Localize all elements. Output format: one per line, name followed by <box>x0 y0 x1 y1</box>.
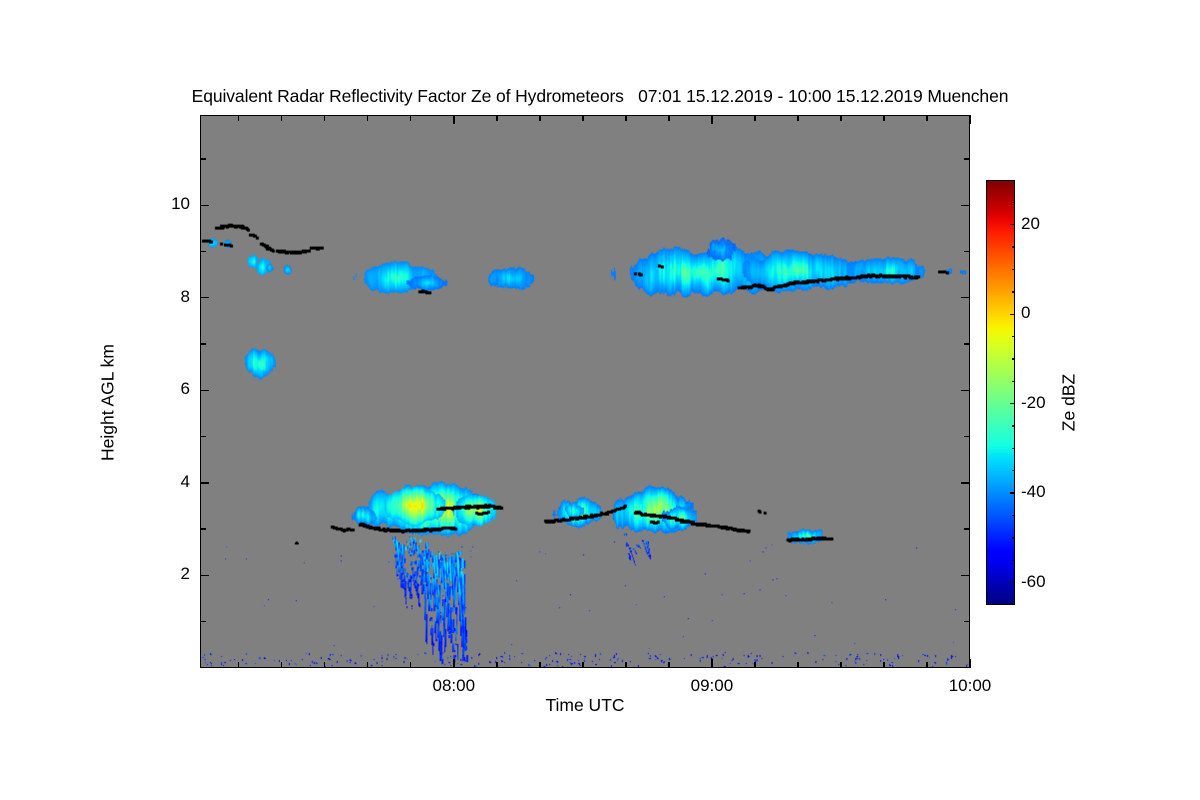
colorbar-tick-label: -20 <box>1021 393 1046 413</box>
x-tick-top <box>324 115 325 121</box>
x-tick <box>539 662 540 668</box>
colorbar-minor-tick <box>1012 381 1016 382</box>
plot-area <box>200 115 970 668</box>
x-tick <box>238 662 239 668</box>
y-tick-label: 2 <box>144 564 190 584</box>
x-tick <box>582 662 583 668</box>
colorbar-minor-tick <box>1012 269 1016 270</box>
colorbar-minor-tick <box>1012 202 1016 203</box>
x-tick-label: 09:00 <box>674 676 750 696</box>
colorbar <box>986 180 1015 605</box>
y-tick-right <box>964 621 970 622</box>
x-tick <box>496 662 497 668</box>
x-tick-top <box>410 115 411 121</box>
y-tick-right <box>961 575 970 576</box>
x-tick <box>453 659 454 668</box>
x-tick-top <box>969 115 970 124</box>
colorbar-tick <box>1010 403 1015 404</box>
y-tick-right <box>961 482 970 483</box>
x-tick-top <box>797 115 798 121</box>
colorbar-tick <box>1010 314 1015 315</box>
x-tick <box>367 662 368 668</box>
x-axis-label: Time UTC <box>200 695 970 716</box>
y-tick-right <box>961 205 970 206</box>
x-tick <box>883 662 884 668</box>
colorbar-minor-tick <box>1012 560 1016 561</box>
x-tick-top <box>668 115 669 121</box>
x-tick-top <box>539 115 540 121</box>
y-tick-label: 6 <box>144 379 190 399</box>
x-tick-top <box>840 115 841 121</box>
colorbar-label: Ze dBZ <box>1059 323 1080 483</box>
x-tick-top <box>453 115 454 124</box>
y-tick-label: 10 <box>144 194 190 214</box>
x-tick-top <box>883 115 884 121</box>
x-tick-top <box>754 115 755 121</box>
colorbar-minor-tick <box>1012 246 1016 247</box>
y-tick <box>200 390 209 391</box>
y-tick-label: 8 <box>144 287 190 307</box>
colorbar-tick <box>1010 224 1015 225</box>
x-tick-top <box>281 115 282 121</box>
x-tick <box>668 662 669 668</box>
colorbar-minor-tick <box>1012 448 1016 449</box>
x-tick <box>926 662 927 668</box>
colorbar-minor-tick <box>1012 358 1016 359</box>
colorbar-tick-label: -40 <box>1021 482 1046 502</box>
x-tick <box>969 659 970 668</box>
radar-figure: Equivalent Radar Reflectivity Factor Ze … <box>0 0 1200 800</box>
colorbar-tick <box>1010 492 1015 493</box>
y-tick-label: 4 <box>144 472 190 492</box>
colorbar-minor-tick <box>1012 425 1016 426</box>
x-tick <box>281 662 282 668</box>
colorbar-tick-label: 0 <box>1021 303 1030 323</box>
colorbar-minor-tick <box>1012 470 1016 471</box>
colorbar-tick <box>1010 582 1015 583</box>
y-tick-right <box>964 528 970 529</box>
x-tick-top <box>711 115 712 124</box>
x-tick-top <box>926 115 927 121</box>
x-tick <box>797 662 798 668</box>
y-tick-right <box>961 390 970 391</box>
x-tick-top <box>367 115 368 121</box>
y-tick-right <box>964 343 970 344</box>
colorbar-tick-label: -60 <box>1021 572 1046 592</box>
y-tick <box>200 343 206 344</box>
y-tick-right <box>964 436 970 437</box>
y-tick <box>200 251 206 252</box>
y-tick <box>200 482 209 483</box>
x-tick-label: 08:00 <box>416 676 492 696</box>
y-tick <box>200 528 206 529</box>
y-tick-right <box>961 297 970 298</box>
x-tick <box>324 662 325 668</box>
x-tick <box>840 662 841 668</box>
x-tick <box>754 662 755 668</box>
y-tick <box>200 621 206 622</box>
y-axis-label: Height AGL km <box>98 283 119 523</box>
x-tick <box>410 662 411 668</box>
colorbar-minor-tick <box>1012 336 1016 337</box>
page-title: Equivalent Radar Reflectivity Factor Ze … <box>0 86 1200 107</box>
x-tick-label: 10:00 <box>932 676 1008 696</box>
x-tick <box>625 662 626 668</box>
x-tick-top <box>496 115 497 121</box>
y-tick <box>200 436 206 437</box>
x-tick <box>711 659 712 668</box>
colorbar-minor-tick <box>1012 537 1016 538</box>
x-tick-top <box>582 115 583 121</box>
y-tick <box>200 205 209 206</box>
x-tick-top <box>625 115 626 121</box>
colorbar-minor-tick <box>1012 291 1016 292</box>
x-tick-top <box>238 115 239 121</box>
y-tick-right <box>964 251 970 252</box>
colorbar-minor-tick <box>1012 515 1016 516</box>
y-tick-right <box>964 158 970 159</box>
colorbar-tick-label: 20 <box>1021 214 1040 234</box>
y-tick <box>200 297 209 298</box>
y-tick <box>200 575 209 576</box>
colorbar-gradient <box>987 181 1014 604</box>
radar-heatmap <box>201 116 969 667</box>
y-tick <box>200 158 206 159</box>
